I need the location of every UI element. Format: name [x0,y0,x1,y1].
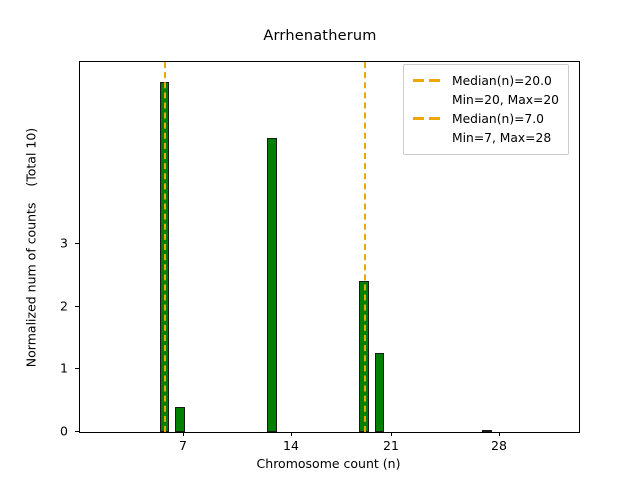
x-tick-label: 14 [269,438,313,453]
x-tick-label: 7 [161,438,205,453]
blank-swatch-icon [413,132,443,144]
legend-item-label: Median(n)=20.0 [452,74,552,88]
median-line [364,62,366,432]
y-axis-label: Normalized num of counts (Total 10) [24,63,39,433]
chart-figure: Arrhenatherum 0 1 2 3 Normalized num of … [0,0,640,480]
dashed-line-swatch-icon [413,113,443,125]
legend-item-label: Median(n)=7.0 [452,112,544,126]
median-line [164,62,166,432]
blank-swatch-icon [413,94,443,106]
chart-title: Arrhenatherum [0,28,640,44]
chart-legend: Median(n)=20.0 Min=20, Max=20 Median(n)=… [403,64,569,155]
legend-item: Median(n)=20.0 [413,71,559,90]
x-axis-label: Chromosome count (n) [79,456,578,471]
x-tick-label: 21 [369,438,413,453]
legend-item: Min=20, Max=20 [413,90,559,109]
legend-item-label: Min=7, Max=28 [452,131,551,145]
x-tick-label: 28 [477,438,521,453]
legend-item-label: Min=20, Max=20 [452,93,559,107]
dashed-line-swatch-icon [413,75,443,87]
legend-item: Min=7, Max=28 [413,128,559,147]
legend-item: Median(n)=7.0 [413,109,559,128]
